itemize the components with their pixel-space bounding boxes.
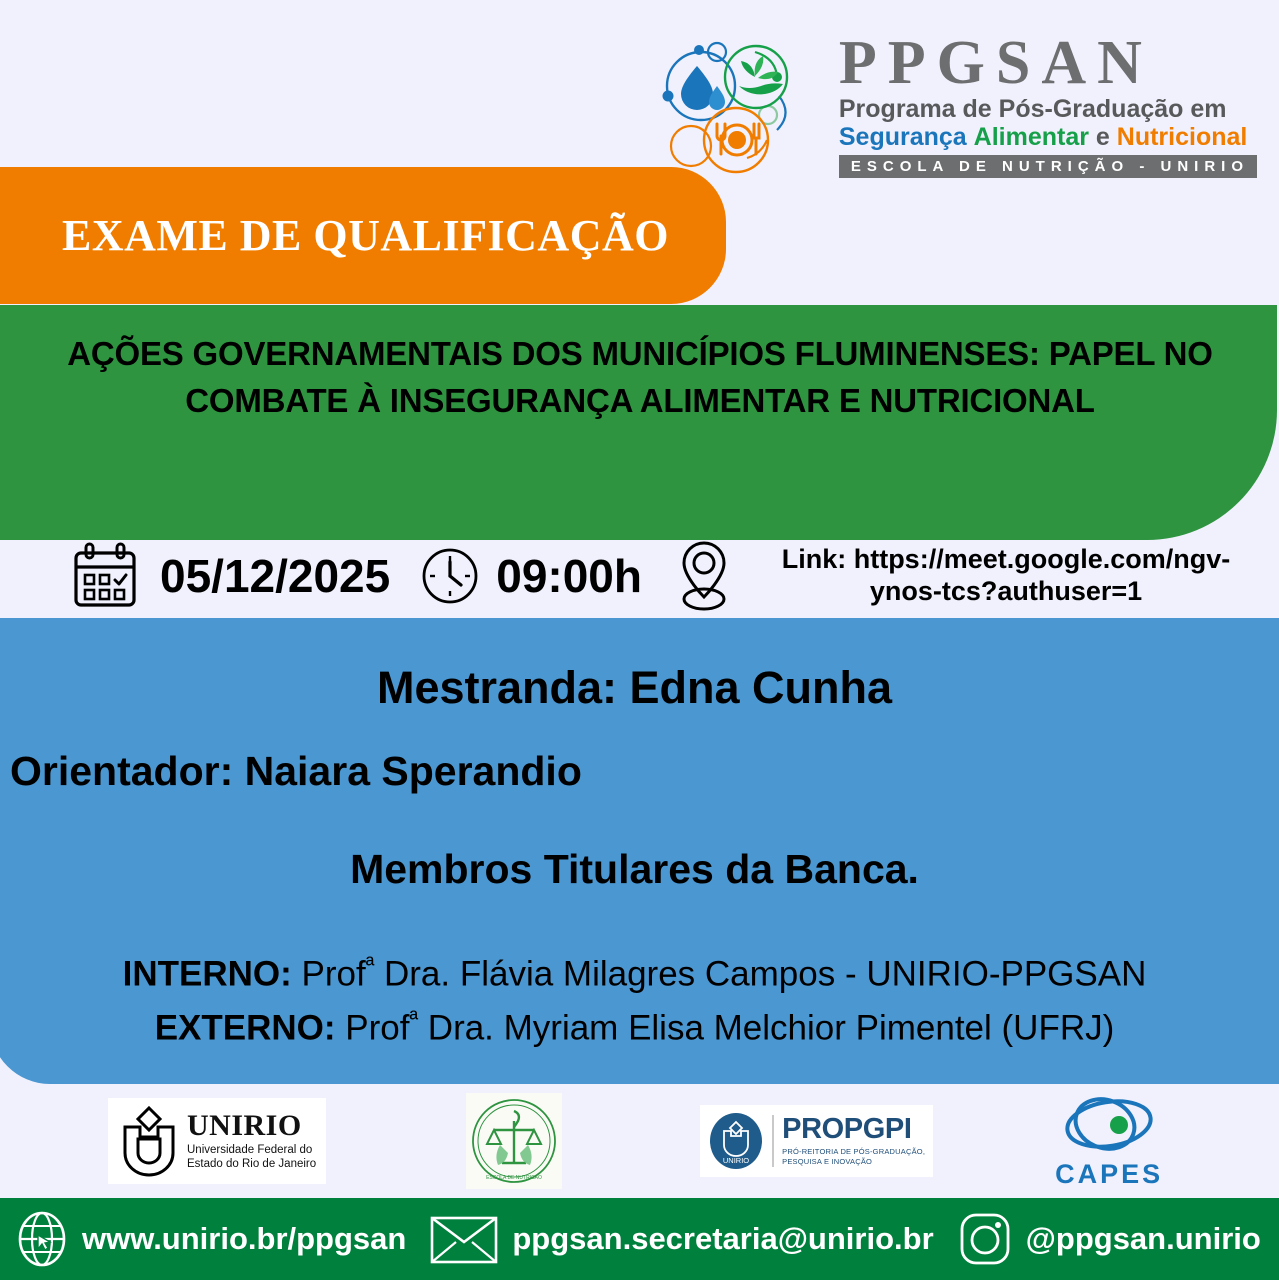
unirio-logo: UNIRIO Universidade Federal do Estado do…	[108, 1098, 326, 1184]
interno-rest: Dra. Flávia Milagres Campos - UNIRIO-PPG…	[374, 955, 1146, 994]
interno-prof: Prof	[302, 955, 366, 994]
event-date: 05/12/2025	[160, 549, 390, 603]
ppgsan-subtitle-line1: Programa de Pós-Graduação em	[839, 95, 1227, 123]
ppgsan-join1	[967, 123, 974, 151]
propgpi-divider	[772, 1115, 774, 1167]
unirio-sub-line2: Estado do Rio de Janeiro	[187, 1157, 316, 1171]
email-text[interactable]: ppgsan.secretaria@unirio.br	[512, 1221, 933, 1257]
event-info-row: 05/12/2025 09:00h Link: https://meet.goo…	[0, 528, 1279, 624]
externo-prof: Prof	[345, 1009, 409, 1048]
externo-sup: ª	[410, 1006, 419, 1032]
website-text[interactable]: www.unirio.br/ppgsan	[82, 1221, 406, 1257]
event-time: 09:00h	[496, 549, 642, 603]
poster-root: PPGSAN Programa de Pós-Graduação em Segu…	[0, 0, 1279, 1280]
time-item: 09:00h	[418, 544, 642, 608]
capes-icon	[1049, 1092, 1169, 1158]
ppgsan-ali: Alimentar	[974, 123, 1089, 151]
location-pin-icon	[672, 537, 736, 615]
clock-icon	[418, 544, 482, 608]
propgpi-sub-line1: PRÓ-REITORIA DE PÓS-GRADUAÇÃO,	[782, 1147, 925, 1157]
interno-sup: ª	[366, 952, 375, 978]
interno-space	[292, 955, 302, 994]
ppgsan-school-bar: ESCOLA DE NUTRIÇÃO - UNIRIO	[839, 155, 1257, 178]
website-item[interactable]: www.unirio.br/ppgsan	[14, 1209, 406, 1269]
exam-type-label: EXAME DE QUALIFICAÇÃO	[62, 210, 669, 261]
footer-logo-strip: UNIRIO Universidade Federal do Estado do…	[0, 1084, 1279, 1198]
propgpi-sub-line2: PESQUISA E INOVAÇÃO	[782, 1157, 925, 1167]
propgpi-sub: PRÓ-REITORIA DE PÓS-GRADUAÇÃO, PESQUISA …	[782, 1147, 925, 1167]
ppgsan-nut: Nutricional	[1117, 123, 1248, 151]
page-title: AÇÕES GOVERNAMENTAIS DOS MUNICÍPIOS FLUM…	[60, 331, 1220, 425]
externo-space	[336, 1009, 346, 1048]
membros-heading: Membros Titulares da Banca.	[0, 846, 1279, 893]
mestranda-line: Mestranda: Edna Cunha	[0, 662, 1279, 714]
escola-de-nutricao-seal-icon: ESCOLA DE NUTRICAO	[470, 1097, 558, 1185]
date-item: 05/12/2025	[68, 539, 390, 613]
envelope-icon	[428, 1210, 500, 1268]
interno-label: INTERNO:	[123, 955, 292, 994]
propgpi-name: PROPGPI	[782, 1115, 925, 1144]
unirio-name: UNIRIO	[187, 1111, 316, 1141]
externo-label: EXTERNO:	[155, 1009, 336, 1048]
unirio-shield-icon	[118, 1105, 180, 1177]
externo-rest: Dra. Myriam Elisa Melchior Pimentel (UFR…	[418, 1009, 1114, 1048]
orientador-line: Orientador: Naiara Sperandio	[10, 748, 582, 795]
logo-icon-group	[655, 36, 825, 176]
unirio-sub: Universidade Federal do Estado do Rio de…	[187, 1143, 316, 1172]
propgpi-unirio-badge-icon: UNIRIO	[708, 1111, 764, 1171]
title-block: AÇÕES GOVERNAMENTAIS DOS MUNICÍPIOS FLUM…	[0, 305, 1277, 540]
capes-logo: CAPES	[1049, 1092, 1169, 1190]
calendar-icon	[68, 539, 142, 613]
contact-footer-bar: www.unirio.br/ppgsan ppgsan.secretaria@u…	[0, 1198, 1279, 1280]
propgpi-logo: UNIRIO PROPGPI PRÓ-REITORIA DE PÓS-GRADU…	[700, 1105, 933, 1177]
ppgsan-seg: Segurança	[839, 123, 967, 151]
instagram-text[interactable]: @ppgsan.unirio	[1026, 1221, 1261, 1257]
propgpi-badge-text: UNIRIO	[723, 1156, 749, 1165]
banca-interno-row: INTERNO: Profª Dra. Flávia Milagres Camp…	[0, 952, 1279, 995]
instagram-item[interactable]: @ppgsan.unirio	[956, 1209, 1261, 1269]
globe-icon	[14, 1209, 70, 1269]
link-item: Link: https://meet.google.com/ngv-ynos-t…	[672, 537, 1266, 615]
escola-nutricao-logo: ESCOLA DE NUTRICAO	[466, 1093, 562, 1189]
ppgsan-logo-marks	[655, 36, 825, 176]
capes-name: CAPES	[1055, 1159, 1163, 1190]
ppgsan-acronym: PPGSAN	[839, 34, 1153, 93]
banca-externo-row: EXTERNO: Profª Dra. Myriam Elisa Melchio…	[0, 1006, 1279, 1049]
exam-type-banner: EXAME DE QUALIFICAÇÃO	[0, 167, 726, 304]
ppgsan-join2: e	[1089, 123, 1117, 151]
email-item[interactable]: ppgsan.secretaria@unirio.br	[428, 1210, 933, 1268]
svg-text:ESCOLA DE NUTRICAO: ESCOLA DE NUTRICAO	[486, 1175, 542, 1181]
ppgsan-subtitle-line2: Segurança Alimentar e Nutricional	[839, 123, 1247, 151]
instagram-icon	[956, 1209, 1014, 1269]
meeting-link[interactable]: Link: https://meet.google.com/ngv-ynos-t…	[746, 544, 1266, 608]
ppgsan-logo-text: PPGSAN Programa de Pós-Graduação em Segu…	[839, 34, 1257, 178]
people-block: Mestranda: Edna Cunha Orientador: Naiara…	[0, 618, 1279, 1084]
unirio-sub-line1: Universidade Federal do	[187, 1143, 316, 1157]
ppgsan-logo: PPGSAN Programa de Pós-Graduação em Segu…	[655, 34, 1257, 178]
